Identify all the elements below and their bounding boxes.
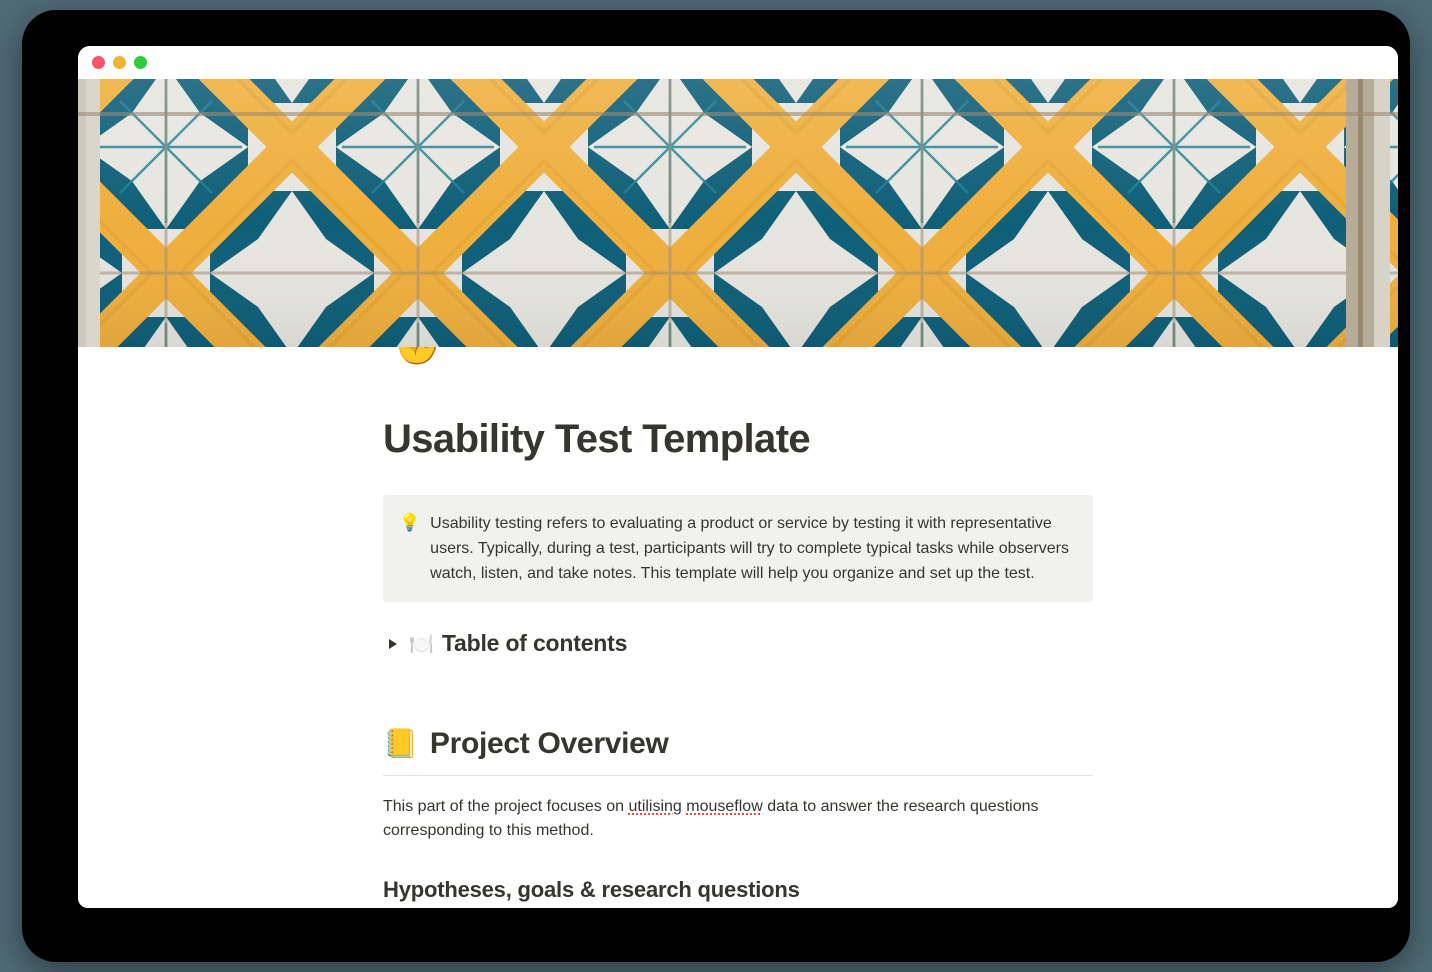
misspelled-word-mouseflow[interactable]: mouseflow [686, 798, 762, 815]
chevron-right-icon[interactable] [389, 639, 397, 649]
callout-text: Usability testing refers to evaluating a… [430, 511, 1077, 586]
page-body: ✌️ Usability Test Template 💡 Usability t… [78, 347, 1398, 908]
fork-and-knife-with-plate-icon: 🍽️ [409, 634, 434, 654]
table-of-contents-label: Table of contents [442, 630, 627, 657]
app-window: ✌️ Usability Test Template 💡 Usability t… [78, 46, 1398, 908]
zoom-button[interactable] [134, 56, 147, 69]
page-content-column: ✌️ Usability Test Template 💡 Usability t… [383, 347, 1093, 903]
light-bulb-icon: 💡 [399, 511, 420, 536]
window-titlebar [78, 46, 1398, 79]
subsection-heading: Hypotheses, goals & research questions [383, 877, 1093, 903]
misspelled-word-utilising[interactable]: utilising [628, 798, 681, 815]
section-heading[interactable]: 📒 Project Overview [383, 727, 1093, 761]
traffic-light-group [92, 56, 147, 69]
page-title[interactable]: Usability Test Template [383, 347, 1093, 463]
desktop-backdrop: ✌️ Usability Test Template 💡 Usability t… [0, 0, 1432, 972]
overview-paragraph[interactable]: This part of the project focuses on util… [383, 795, 1093, 843]
minimize-button[interactable] [113, 56, 126, 69]
page-cover-image[interactable] [78, 79, 1398, 347]
device-frame: ✌️ Usability Test Template 💡 Usability t… [22, 10, 1410, 962]
ledger-icon: 📒 [383, 730, 418, 758]
close-button[interactable] [92, 56, 105, 69]
victory-hand-icon[interactable]: ✌️ [383, 347, 453, 363]
paragraph-text-part1: This part of the project focuses on [383, 798, 628, 815]
table-of-contents-toggle[interactable]: 🍽️ Table of contents [383, 630, 1093, 657]
section-divider [383, 775, 1093, 776]
section-title: Project Overview [430, 727, 669, 761]
tile-pattern-graphic [78, 79, 1398, 347]
callout-block[interactable]: 💡 Usability testing refers to evaluating… [383, 495, 1093, 602]
